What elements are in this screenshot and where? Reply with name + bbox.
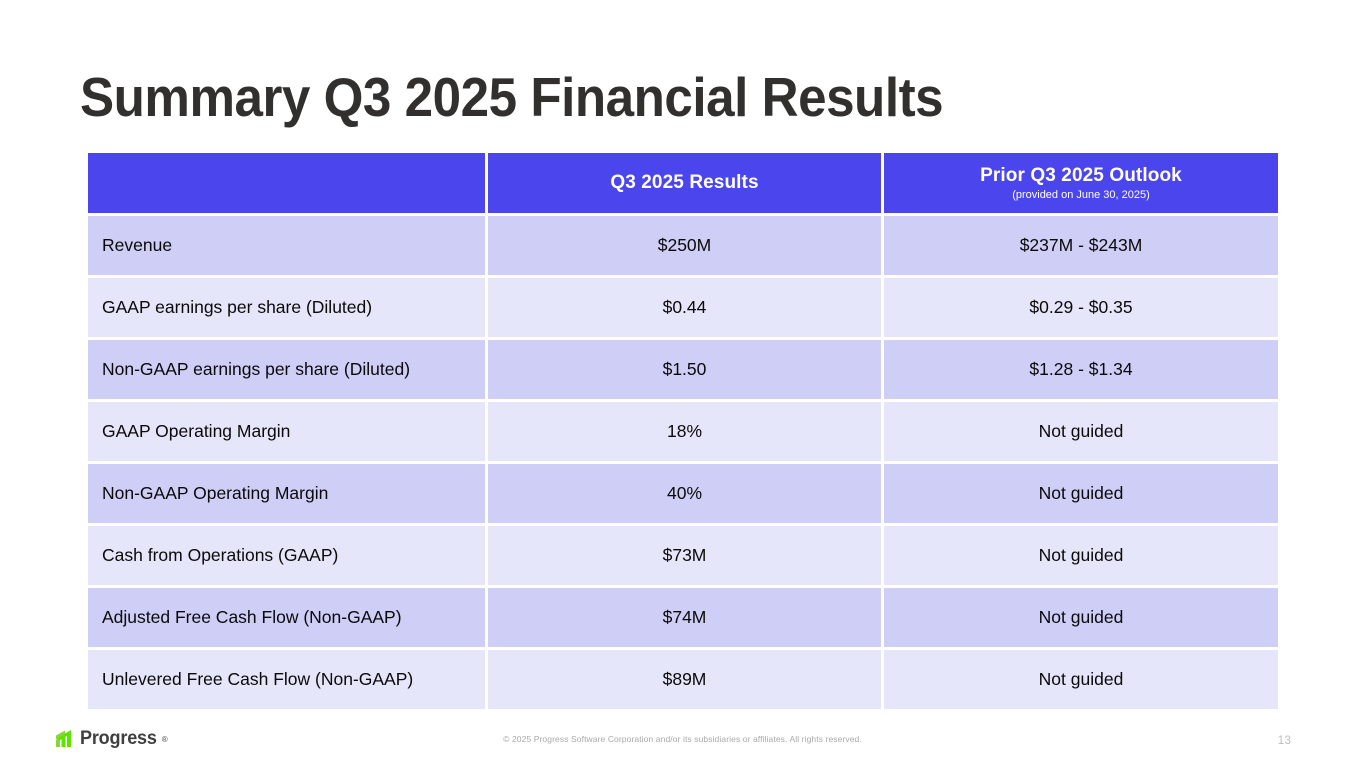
row-outlook-value: Not guided xyxy=(884,402,1278,461)
copyright-text: © 2025 Progress Software Corporation and… xyxy=(0,734,1365,744)
table-row: GAAP earnings per share (Diluted) $0.44 … xyxy=(88,278,1278,337)
row-outlook-value: Not guided xyxy=(884,650,1278,709)
table-row: GAAP Operating Margin 18% Not guided xyxy=(88,402,1278,461)
row-outlook-value: Not guided xyxy=(884,464,1278,523)
slide-footer: Progress ® © 2025 Progress Software Corp… xyxy=(0,726,1365,768)
row-outlook-value: Not guided xyxy=(884,588,1278,647)
header-cell-results: Q3 2025 Results xyxy=(488,153,881,213)
row-results-value: 40% xyxy=(488,464,881,523)
row-metric-label: Adjusted Free Cash Flow (Non-GAAP) xyxy=(88,588,485,647)
row-outlook-value: $237M - $243M xyxy=(884,216,1278,275)
row-results-value: 18% xyxy=(488,402,881,461)
header-cell-metric xyxy=(88,153,485,213)
row-metric-label: Non-GAAP earnings per share (Diluted) xyxy=(88,340,485,399)
row-results-value: $0.44 xyxy=(488,278,881,337)
row-metric-label: Non-GAAP Operating Margin xyxy=(88,464,485,523)
page-number: 13 xyxy=(1278,733,1291,747)
table-row: Unlevered Free Cash Flow (Non-GAAP) $89M… xyxy=(88,650,1278,709)
table-row: Revenue $250M $237M - $243M xyxy=(88,216,1278,275)
row-metric-label: GAAP Operating Margin xyxy=(88,402,485,461)
row-results-value: $74M xyxy=(488,588,881,647)
financial-results-table: Q3 2025 Results Prior Q3 2025 Outlook (p… xyxy=(88,153,1278,709)
header-outlook-subtitle: (provided on June 30, 2025) xyxy=(1012,188,1150,202)
page-title: Summary Q3 2025 Financial Results xyxy=(80,64,943,130)
row-results-value: $73M xyxy=(488,526,881,585)
row-metric-label: Revenue xyxy=(88,216,485,275)
row-metric-label: Unlevered Free Cash Flow (Non-GAAP) xyxy=(88,650,485,709)
row-outlook-value: Not guided xyxy=(884,526,1278,585)
table-header-row: Q3 2025 Results Prior Q3 2025 Outlook (p… xyxy=(88,153,1278,213)
row-results-value: $89M xyxy=(488,650,881,709)
table-row: Non-GAAP earnings per share (Diluted) $1… xyxy=(88,340,1278,399)
row-results-value: $1.50 xyxy=(488,340,881,399)
row-metric-label: GAAP earnings per share (Diluted) xyxy=(88,278,485,337)
table-row: Cash from Operations (GAAP) $73M Not gui… xyxy=(88,526,1278,585)
row-outlook-value: $0.29 - $0.35 xyxy=(884,278,1278,337)
slide: Summary Q3 2025 Financial Results Q3 202… xyxy=(0,0,1365,768)
row-metric-label: Cash from Operations (GAAP) xyxy=(88,526,485,585)
header-cell-outlook: Prior Q3 2025 Outlook (provided on June … xyxy=(884,153,1278,213)
row-results-value: $250M xyxy=(488,216,881,275)
header-results-label: Q3 2025 Results xyxy=(610,172,758,194)
table-row: Non-GAAP Operating Margin 40% Not guided xyxy=(88,464,1278,523)
table-row: Adjusted Free Cash Flow (Non-GAAP) $74M … xyxy=(88,588,1278,647)
row-outlook-value: $1.28 - $1.34 xyxy=(884,340,1278,399)
header-outlook-label: Prior Q3 2025 Outlook xyxy=(980,165,1182,187)
